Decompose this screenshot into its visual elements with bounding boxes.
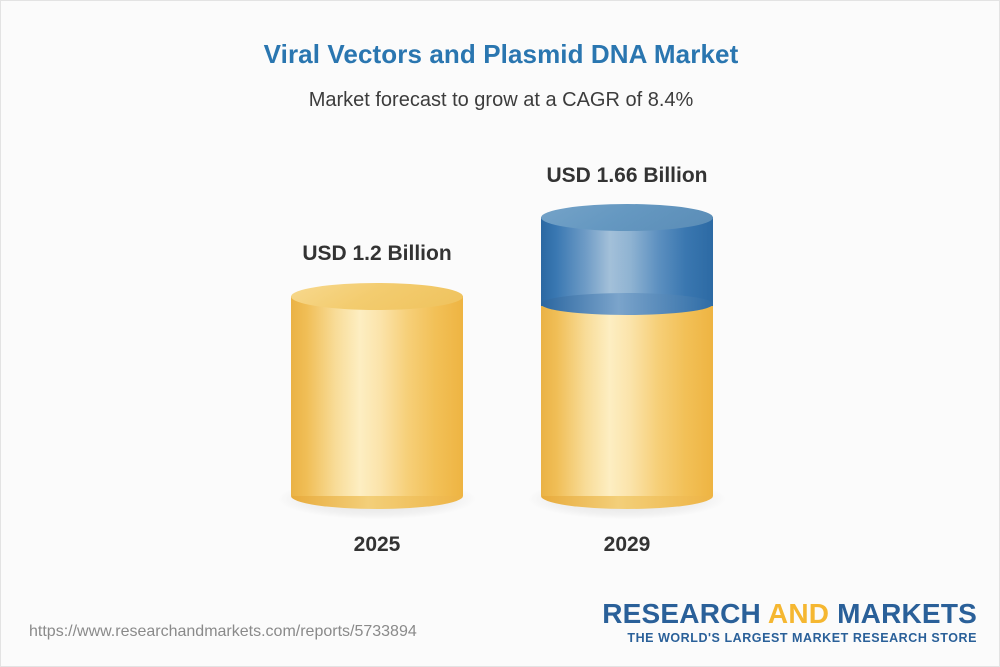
research-and-markets-logo[interactable]: RESEARCH AND MARKETS THE WORLD'S LARGEST… <box>602 599 977 645</box>
bar-chart: USD 1.2 Billion 2025 USD 1.66 Billion 20… <box>1 1 1000 667</box>
category-label-2025: 2025 <box>237 533 517 557</box>
category-label-2029: 2029 <box>487 533 767 557</box>
logo-word-markets: MARKETS <box>829 598 977 629</box>
cylinder-top-2029 <box>541 204 713 231</box>
bar-group-2025[interactable] <box>291 283 463 509</box>
value-label-2025: USD 1.2 Billion <box>237 242 517 266</box>
logo-tagline: THE WORLD'S LARGEST MARKET RESEARCH STOR… <box>602 631 977 645</box>
chart-page: Viral Vectors and Plasmid DNA Market Mar… <box>0 0 1000 667</box>
logo-wordmark: RESEARCH AND MARKETS <box>602 599 977 628</box>
report-url[interactable]: https://www.researchandmarkets.com/repor… <box>29 623 417 641</box>
cylinder-body-2025 <box>291 296 463 496</box>
logo-word-and: AND <box>768 598 829 629</box>
cylinder-segment-base-2029 <box>541 301 713 496</box>
cylinder-top-2025 <box>291 283 463 310</box>
logo-word-research: RESEARCH <box>602 598 768 629</box>
cylinder-segment-seam-2029 <box>541 293 713 315</box>
value-label-2029: USD 1.66 Billion <box>487 164 767 188</box>
bar-group-2029[interactable] <box>541 204 713 509</box>
